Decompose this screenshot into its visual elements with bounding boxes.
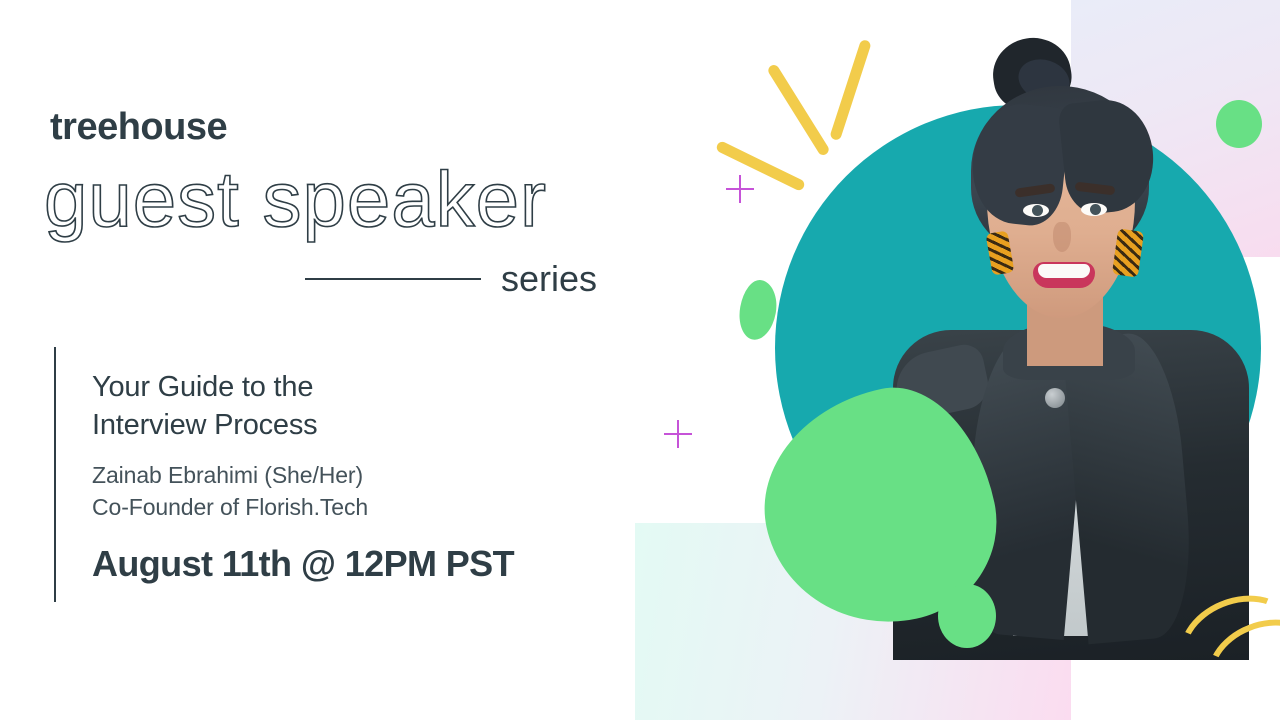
series-divider [305,278,481,280]
portrait-pupil-right [1090,204,1101,215]
talk-title-line-1: Your Guide to the [92,368,612,406]
talk-title-line-2: Interview Process [92,406,612,444]
speaker-name: Zainab Ebrahimi (She/Her) [92,459,612,492]
headline-outline: guest speaker [44,160,547,238]
green-dot-icon [938,584,996,648]
portrait-teeth [1038,264,1090,278]
event-info: Your Guide to the Interview Process Zain… [92,368,612,583]
speaker-role: Co-Founder of Florish.Tech [92,491,612,524]
brand-wordmark: treehouse [50,108,227,146]
portrait-jacket-snap [1045,388,1065,408]
promo-slide: treehouse guest speaker series Your Guid… [0,0,1280,720]
series-label: series [501,261,597,297]
event-datetime: August 11th @ 12PM PST [92,544,612,584]
portrait-earring-right [1112,228,1144,277]
plus-mark-icon [726,175,754,203]
info-divider [54,347,56,602]
portrait-pupil-left [1032,205,1043,216]
plus-mark-icon [664,420,692,448]
series-row: series [305,256,625,302]
portrait-nose [1053,222,1071,252]
